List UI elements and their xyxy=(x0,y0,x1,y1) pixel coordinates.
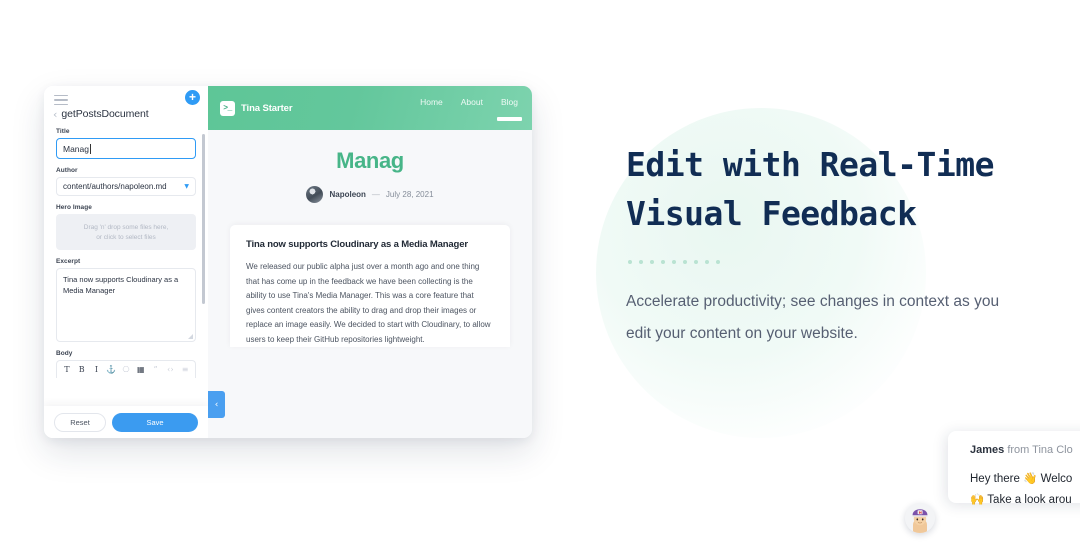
site-preview-pane: >_ Tina Starter Home About Blog Manag Na… xyxy=(208,86,532,438)
collapse-sidebar-button[interactable]: ‹ xyxy=(208,391,225,418)
article: Manag Napoleon — July 28, 2021 Tina now … xyxy=(208,130,532,347)
hero-subtext: Accelerate productivity; see changes in … xyxy=(626,286,1026,350)
chevron-left-icon[interactable]: ‹ xyxy=(53,109,57,120)
author-select-value: content/authors/napoleon.md xyxy=(63,182,167,191)
page-title: Edit with Real-Time Visual Feedback xyxy=(626,140,1026,238)
link-icon[interactable]: ⚓ xyxy=(104,363,118,377)
hero-copy: Edit with Real-Time Visual Feedback Acce… xyxy=(626,140,1026,350)
terminal-prompt-icon: >_ xyxy=(220,101,235,116)
add-button[interactable]: + xyxy=(185,90,200,105)
italic-icon[interactable]: I xyxy=(90,363,104,377)
table-icon[interactable]: ▦ xyxy=(134,363,148,377)
article-body: We released our public alpha just over a… xyxy=(246,260,494,347)
field-title: Title Manag xyxy=(56,128,196,159)
field-label-excerpt: Excerpt xyxy=(56,258,196,265)
sidebar-scrollbar-thumb[interactable] xyxy=(202,134,205,304)
field-hero-image: Hero Image Drag 'n' drop some files here… xyxy=(56,204,196,250)
site-nav: Home About Blog xyxy=(420,97,518,119)
breadcrumb-title: getPostsDocument xyxy=(61,108,148,120)
breadcrumb[interactable]: ‹ getPostsDocument xyxy=(53,108,149,120)
nav-link-about[interactable]: About xyxy=(461,97,483,119)
article-title: Manag xyxy=(230,148,510,174)
excerpt-value: Tina now supports Cloudinary as a Media … xyxy=(63,275,178,295)
cms-sidebar: + ‹ getPostsDocument Title Manag Author … xyxy=(44,86,208,438)
chat-sender-org: from Tina Clo xyxy=(1004,444,1072,456)
author-avatar xyxy=(306,186,323,203)
dot-divider xyxy=(628,260,1026,264)
site-header: >_ Tina Starter Home About Blog xyxy=(208,86,532,130)
sidebar-header: + ‹ getPostsDocument xyxy=(44,86,208,128)
bold-icon[interactable]: B xyxy=(75,363,89,377)
field-label-hero-image: Hero Image xyxy=(56,204,196,211)
chat-popup[interactable]: James from Tina Clo Hey there 👋 Welco 🙌 … xyxy=(948,431,1080,503)
byline-author: Napoleon xyxy=(329,190,365,199)
dropzone-text-line2: or click to select files xyxy=(96,233,156,242)
code-block-icon[interactable]: ‹› xyxy=(163,363,177,377)
byline-date: July 28, 2021 xyxy=(386,190,434,199)
reset-button[interactable]: Reset xyxy=(54,413,106,432)
chat-sender-name: James xyxy=(970,444,1004,456)
excerpt-textarea[interactable]: Tina now supports Cloudinary as a Media … xyxy=(56,268,196,342)
text-caret xyxy=(90,144,91,154)
chat-message-line-2: 🙌 Take a look arou xyxy=(970,490,1080,511)
article-card: Tina now supports Cloudinary as a Media … xyxy=(230,225,510,347)
chevron-down-icon: ▼ xyxy=(184,183,189,190)
field-label-author: Author xyxy=(56,167,196,174)
chat-sender: James from Tina Clo xyxy=(970,444,1080,456)
field-body: Body T B I ⚓ ⎔ ▦ ” ‹› ≡ xyxy=(56,350,196,378)
save-button[interactable]: Save xyxy=(112,413,198,432)
resize-handle-icon[interactable] xyxy=(188,334,193,339)
chat-message-line-1: Hey there 👋 Welco xyxy=(970,469,1080,490)
byline-separator: — xyxy=(372,190,380,199)
page-root: + ‹ getPostsDocument Title Manag Author … xyxy=(0,0,1080,558)
title-input-value: Manag xyxy=(63,144,89,154)
inline-code-icon[interactable]: ⎔ xyxy=(119,363,133,377)
site-brand-name: Tina Starter xyxy=(241,103,292,114)
field-excerpt: Excerpt Tina now supports Cloudinary as … xyxy=(56,258,196,342)
avatar-illustration xyxy=(905,503,935,533)
chat-agent-avatar[interactable] xyxy=(905,503,935,533)
quote-icon[interactable]: ” xyxy=(149,363,163,377)
article-heading: Tina now supports Cloudinary as a Media … xyxy=(246,239,494,250)
author-select[interactable]: content/authors/napoleon.md ▼ xyxy=(56,177,196,196)
list-icon[interactable]: ≡ xyxy=(178,363,192,377)
hamburger-icon[interactable] xyxy=(54,95,68,105)
field-label-title: Title xyxy=(56,128,196,135)
title-input[interactable]: Manag xyxy=(56,138,196,159)
article-byline: Napoleon — July 28, 2021 xyxy=(230,186,510,203)
sidebar-scrollbar[interactable] xyxy=(202,134,205,400)
body-editor-toolbar: T B I ⚓ ⎔ ▦ ” ‹› ≡ xyxy=(56,360,196,378)
nav-link-blog[interactable]: Blog xyxy=(501,97,518,119)
nav-link-home[interactable]: Home xyxy=(420,97,443,119)
heading-icon[interactable]: T xyxy=(60,363,74,377)
site-brand[interactable]: >_ Tina Starter xyxy=(220,101,292,116)
cms-app-window: + ‹ getPostsDocument Title Manag Author … xyxy=(44,86,532,438)
dropzone-text-line1: Drag 'n' drop some files here, xyxy=(84,223,169,232)
hero-image-dropzone[interactable]: Drag 'n' drop some files here, or click … xyxy=(56,214,196,250)
sidebar-form: Title Manag Author content/authors/napol… xyxy=(44,128,208,438)
sidebar-footer: Reset Save xyxy=(44,406,208,438)
field-label-body: Body xyxy=(56,350,196,357)
field-author: Author content/authors/napoleon.md ▼ xyxy=(56,167,196,196)
